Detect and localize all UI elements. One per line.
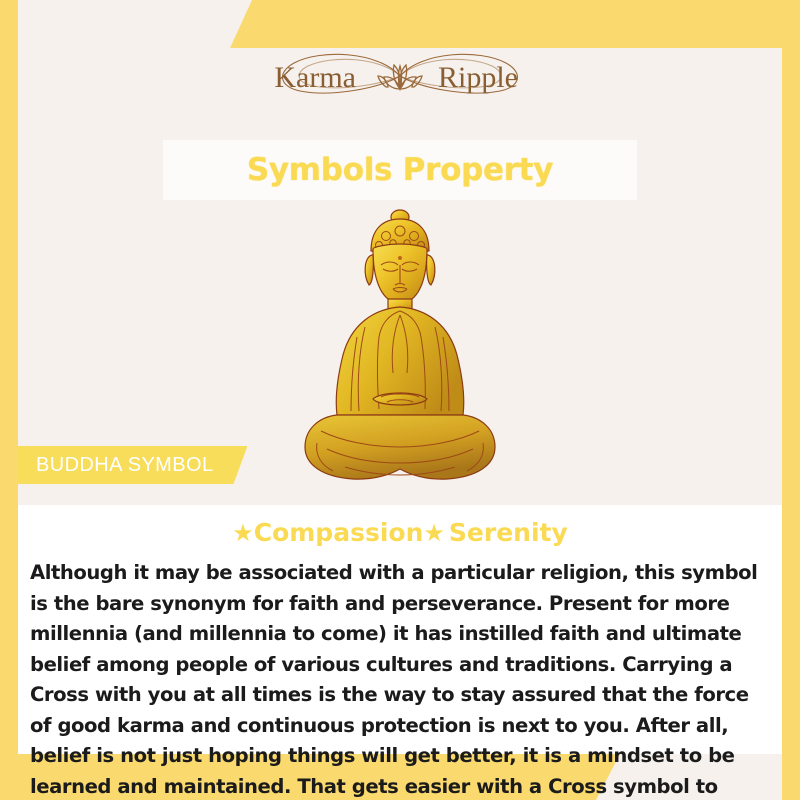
brand-name-right: Ripple [438, 61, 518, 94]
attribute-serenity: Serenity [449, 518, 568, 547]
attribute-compassion: Compassion [254, 518, 424, 547]
content-panel: ★Compassion★Serenity Although it may be … [18, 505, 782, 754]
lotus-infinity-icon: Karma Ripple [260, 43, 540, 109]
buddha-symbol-badge: BUDDHA SYMBOL [18, 446, 247, 484]
star-icon-2: ★ [423, 519, 445, 547]
badge-label: BUDDHA SYMBOL [36, 454, 213, 477]
brand-name-left: Karma [274, 61, 356, 94]
description-paragraph: Although it may be associated with a par… [18, 558, 782, 800]
golden-buddha-statue-icon [293, 203, 508, 493]
brand-logo: Karma Ripple [0, 40, 800, 112]
star-icon-1: ★ [232, 519, 254, 547]
poster-canvas: Karma Ripple Symbols Property [0, 0, 800, 800]
page-title: Symbols Property [247, 152, 553, 188]
symbol-attributes: ★Compassion★Serenity [18, 518, 782, 547]
title-banner: Symbols Property [163, 140, 637, 200]
